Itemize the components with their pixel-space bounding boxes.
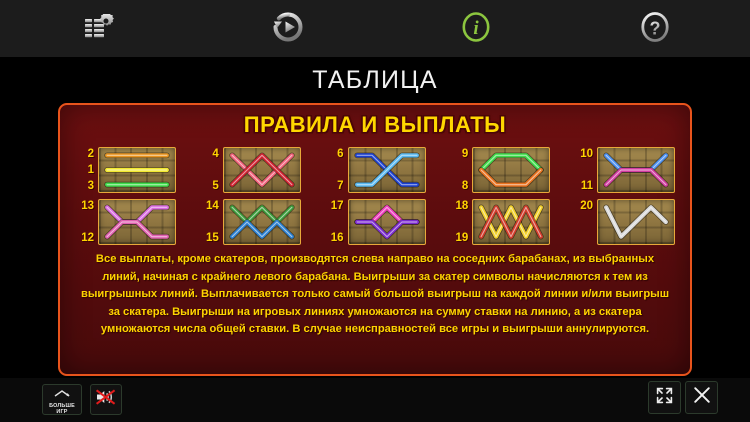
payline-number: 3 bbox=[75, 180, 94, 192]
top-toolbar: i ? bbox=[0, 0, 750, 58]
payline-number: 18 bbox=[449, 200, 468, 212]
settings-bars-gear-icon bbox=[84, 14, 114, 45]
payline-number: 7 bbox=[325, 180, 344, 192]
payline-number: 14 bbox=[200, 200, 219, 212]
paylines-grid: 2134·56·79·810·1113·1214·1517·1618·1920·… bbox=[75, 147, 675, 245]
expand-arrows-icon bbox=[655, 386, 674, 410]
payline-number: 20 bbox=[574, 200, 593, 212]
payline-number: 17 bbox=[325, 200, 344, 212]
payline-diagram bbox=[472, 199, 550, 245]
fullscreen-button[interactable] bbox=[648, 381, 681, 414]
payline-numbers: 13·12 bbox=[75, 200, 94, 244]
payline-numbers: 20·· bbox=[574, 200, 593, 244]
speaker-muted-icon bbox=[95, 388, 117, 411]
payline-cell: 17·16 bbox=[325, 199, 426, 245]
payline-cell: 20·· bbox=[574, 199, 675, 245]
payline-numbers: 4·5 bbox=[200, 148, 219, 192]
payline-diagram bbox=[597, 147, 675, 193]
payline-number: 4 bbox=[200, 148, 219, 160]
payline-numbers: 213 bbox=[75, 148, 94, 192]
payline-cell: 6·7 bbox=[325, 147, 426, 193]
payline-cell: 213 bbox=[75, 147, 176, 193]
replay-history-icon bbox=[272, 11, 304, 48]
more-games-label-2: ИГР bbox=[56, 409, 67, 415]
payline-number: 2 bbox=[75, 148, 94, 160]
more-games-button[interactable]: БОЛЬШЕ ИГР bbox=[42, 384, 82, 415]
payline-diagram bbox=[597, 199, 675, 245]
payline-diagram bbox=[472, 147, 550, 193]
payline-diagram bbox=[98, 199, 176, 245]
payline-number: 6 bbox=[325, 148, 344, 160]
help-button[interactable]: ? bbox=[634, 9, 676, 49]
payline-number: 10 bbox=[574, 148, 593, 160]
panel-title: ПРАВИЛА И ВЫПЛАТЫ bbox=[60, 112, 690, 138]
payline-number: 12 bbox=[75, 232, 94, 244]
slot-paytable-screen: i ? ТАБЛИЦА ПРАВИЛА И ВЫПЛ bbox=[0, 0, 750, 422]
payline-number: 1 bbox=[75, 164, 94, 176]
payline-number: 16 bbox=[325, 232, 344, 244]
payline-cell: 13·12 bbox=[75, 199, 176, 245]
payline-cell: 14·15 bbox=[200, 199, 301, 245]
sound-mute-button[interactable] bbox=[90, 384, 122, 415]
payline-cell: 4·5 bbox=[200, 147, 301, 193]
settings-button[interactable] bbox=[78, 9, 120, 49]
help-question-icon: ? bbox=[640, 11, 670, 48]
payline-number: 13 bbox=[75, 200, 94, 212]
payline-numbers: 18·19 bbox=[449, 200, 468, 244]
payline-cell: 9·8 bbox=[449, 147, 550, 193]
payline-diagram bbox=[348, 147, 426, 193]
payline-row: 2134·56·79·810·11 bbox=[75, 147, 675, 193]
payline-diagram bbox=[223, 147, 301, 193]
svg-text:?: ? bbox=[650, 18, 661, 38]
payline-diagram bbox=[223, 199, 301, 245]
close-button[interactable] bbox=[685, 381, 718, 414]
close-x-icon bbox=[692, 385, 712, 410]
payline-number: 8 bbox=[449, 180, 468, 192]
info-circle-icon: i bbox=[461, 11, 491, 48]
payline-number: 9 bbox=[449, 148, 468, 160]
info-button[interactable]: i bbox=[455, 9, 497, 49]
rules-panel: ПРАВИЛА И ВЫПЛАТЫ 2134·56·79·810·1113·12… bbox=[58, 103, 692, 376]
payline-numbers: 14·15 bbox=[200, 200, 219, 244]
payline-number: 11 bbox=[574, 180, 593, 192]
payline-number: 19 bbox=[449, 232, 468, 244]
page-title: ТАБЛИЦА bbox=[0, 66, 750, 95]
payline-diagram bbox=[98, 147, 176, 193]
home-arrow-icon bbox=[52, 385, 72, 403]
payline-number: 15 bbox=[200, 232, 219, 244]
history-button[interactable] bbox=[267, 9, 309, 49]
payline-cell: 18·19 bbox=[449, 199, 550, 245]
payline-numbers: 10·11 bbox=[574, 148, 593, 192]
payline-numbers: 17·16 bbox=[325, 200, 344, 244]
payline-diagram bbox=[348, 199, 426, 245]
rules-text: Все выплаты, кроме скатеров, производятс… bbox=[80, 251, 670, 339]
payline-numbers: 9·8 bbox=[449, 148, 468, 192]
payline-number: 5 bbox=[200, 180, 219, 192]
payline-cell: 10·11 bbox=[574, 147, 675, 193]
payline-row: 13·1214·1517·1618·1920·· bbox=[75, 199, 675, 245]
payline-numbers: 6·7 bbox=[325, 148, 344, 192]
svg-text:i: i bbox=[473, 18, 479, 39]
